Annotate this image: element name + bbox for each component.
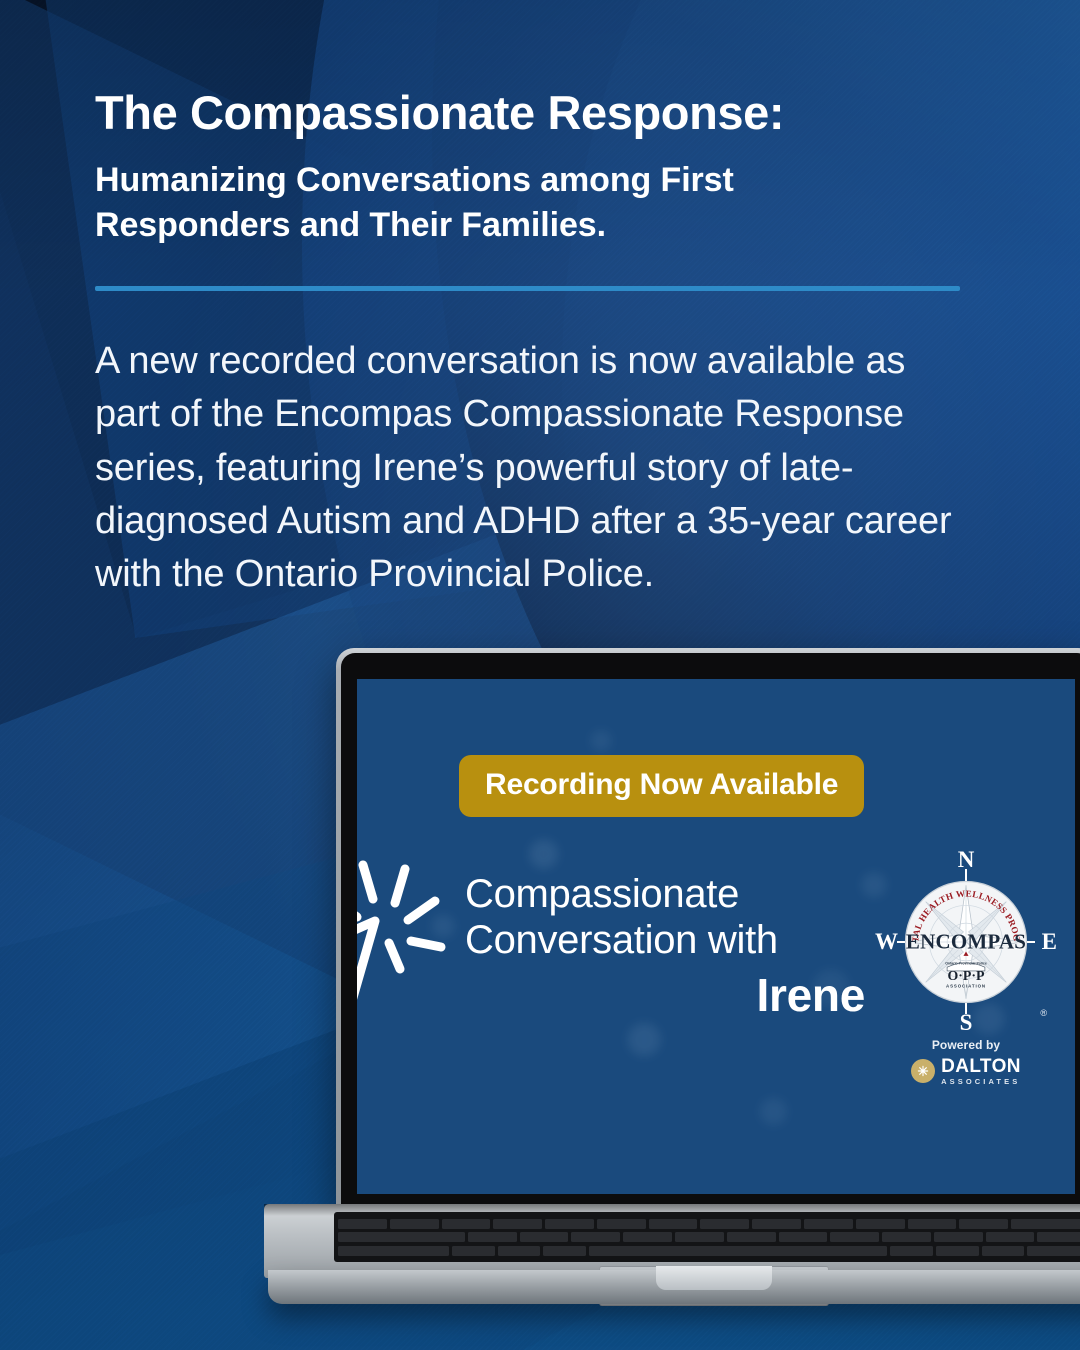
svg-text:Ontario Provincial Police: Ontario Provincial Police [945, 961, 987, 965]
keyboard-row [338, 1219, 1080, 1229]
laptop-lid: Recording Now Available Compassionate Co… [336, 648, 1080, 1208]
dalton-subtitle: ASSOCIATES [941, 1078, 1021, 1086]
text-content-block: The Compassionate Response: Humanizing C… [95, 88, 985, 601]
status-badge: Recording Now Available [459, 755, 864, 817]
compass-graphic: N S W E [875, 849, 1057, 1034]
click-cursor-icon [357, 847, 455, 1077]
compass-east-label: E [1042, 929, 1057, 955]
dalton-name: DALTON [941, 1056, 1021, 1077]
divider-rule [95, 286, 960, 291]
page-subtitle: Humanizing Conversations among First Res… [95, 158, 895, 248]
keyboard-row [338, 1232, 1080, 1242]
laptop-screen: Recording Now Available Compassionate Co… [357, 679, 1075, 1194]
powered-by-label: Powered by [875, 1038, 1057, 1052]
encompas-logo-block: N S W E [875, 849, 1057, 1086]
laptop-front-latch [656, 1266, 772, 1290]
dalton-emblem-icon [911, 1059, 935, 1083]
page-title: The Compassionate Response: [95, 88, 985, 138]
laptop-bezel: Recording Now Available Compassionate Co… [341, 653, 1080, 1208]
compass-west-label: W [875, 929, 898, 955]
svg-text:ASSOCIATION: ASSOCIATION [946, 983, 986, 988]
screen-title-line-1: Compassionate [465, 871, 865, 917]
dalton-text-block: DALTON ASSOCIATES [941, 1057, 1021, 1086]
svg-text:O·P·P: O·P·P [948, 967, 985, 982]
laptop-mockup: Recording Now Available Compassionate Co… [336, 648, 1080, 1268]
poster-canvas: The Compassionate Response: Humanizing C… [0, 0, 1080, 1350]
logo-registered-mark: ® [1040, 1008, 1047, 1018]
keyboard-row [338, 1246, 1080, 1256]
laptop-base [264, 1204, 1080, 1312]
screen-title-line-2: Conversation with [465, 917, 865, 963]
screen-title-name: Irene [465, 970, 865, 1021]
dalton-logo-row: DALTON ASSOCIATES [875, 1057, 1057, 1086]
body-paragraph: A new recorded conversation is now avail… [95, 335, 975, 601]
logo-wordmark: ENCOMPAS [906, 929, 1026, 954]
laptop-keyboard [334, 1212, 1080, 1262]
screen-title-block: Compassionate Conversation with Irene [465, 871, 865, 1020]
